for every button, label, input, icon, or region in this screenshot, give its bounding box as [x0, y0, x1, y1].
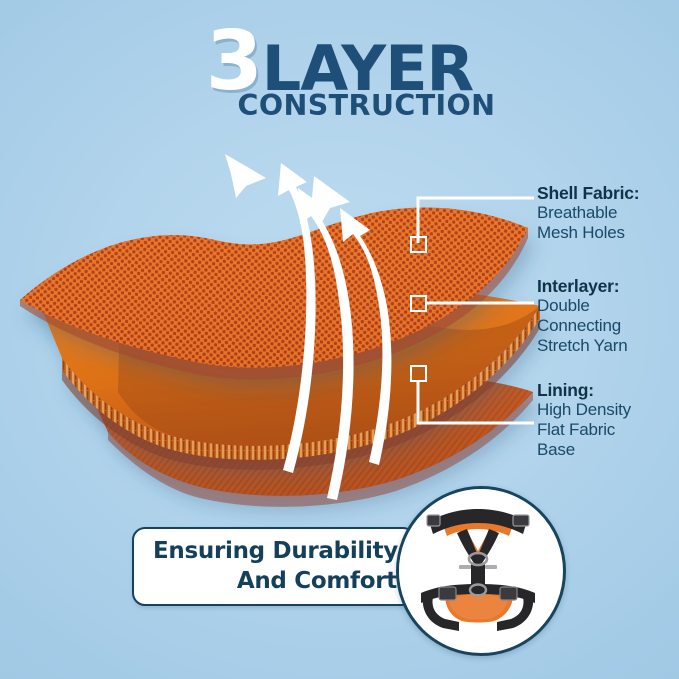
callout-interlayer: Interlayer: Double Connecting Stretch Ya… [537, 276, 628, 356]
callout-lining-line-2: Flat Fabric [537, 420, 631, 440]
callout-lining-line-1: High Density [537, 400, 631, 420]
marker-shell [410, 236, 427, 253]
callout-lining-line-3: Base [537, 440, 631, 460]
dog-harness-illustration [399, 489, 557, 647]
callout-lining-heading: Lining: [537, 380, 631, 400]
callout-interlayer-line-3: Stretch Yarn [537, 336, 628, 356]
callout-shell-heading: Shell Fabric: [537, 183, 639, 203]
callout-shell-fabric: Shell Fabric: Breathable Mesh Holes [537, 183, 639, 243]
callout-interlayer-line-2: Connecting [537, 316, 628, 336]
marker-interlayer [410, 295, 427, 312]
tagline-line-1: Ensuring Durability [134, 537, 398, 566]
callout-interlayer-heading: Interlayer: [537, 276, 628, 296]
callout-lining: Lining: High Density Flat Fabric Base [537, 380, 631, 460]
tagline-banner: Ensuring Durability And Comfort [132, 527, 416, 606]
product-photo-circle [396, 486, 566, 656]
tagline-line-2: And Comfort [237, 567, 414, 596]
marker-lining [410, 365, 427, 382]
callout-shell-line-1: Breathable [537, 203, 639, 223]
callout-interlayer-line-1: Double [537, 296, 628, 316]
infographic-canvas: 3 LAYER CONSTRUCTION [0, 0, 679, 679]
callout-shell-line-2: Mesh Holes [537, 223, 639, 243]
